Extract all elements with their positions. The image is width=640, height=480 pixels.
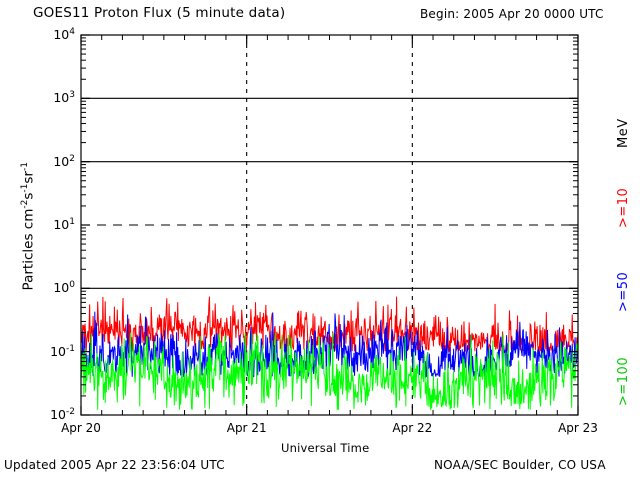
legend-item-ge10: >=10 xyxy=(616,188,631,228)
y-tick-label: 10-1 xyxy=(37,344,75,359)
proton-flux-chart: GOES11 Proton Flux (5 minute data) Begin… xyxy=(0,0,640,480)
x-tick-label: Apr 22 xyxy=(386,421,438,435)
y-tick-label: 100 xyxy=(37,280,75,295)
y-tick-label: 101 xyxy=(37,217,75,232)
y-tick-label: 103 xyxy=(37,90,75,105)
y-tick-label: 102 xyxy=(37,154,75,169)
plot-canvas xyxy=(0,0,640,480)
updated-timestamp: Updated 2005 Apr 22 23:56:04 UTC xyxy=(4,458,225,472)
y-tick-label: 10-2 xyxy=(37,407,75,422)
y-tick-label: 104 xyxy=(37,27,75,42)
source-credit: NOAA/SEC Boulder, CO USA xyxy=(434,458,606,472)
legend-item-ge50: >=50 xyxy=(616,272,631,312)
legend-item-ge100: >=100 xyxy=(616,357,631,406)
legend-units-label: MeV xyxy=(616,118,631,148)
x-tick-label: Apr 23 xyxy=(552,421,604,435)
x-tick-label: Apr 21 xyxy=(221,421,273,435)
x-tick-label: Apr 20 xyxy=(55,421,107,435)
x-axis-title: Universal Time xyxy=(281,441,369,455)
